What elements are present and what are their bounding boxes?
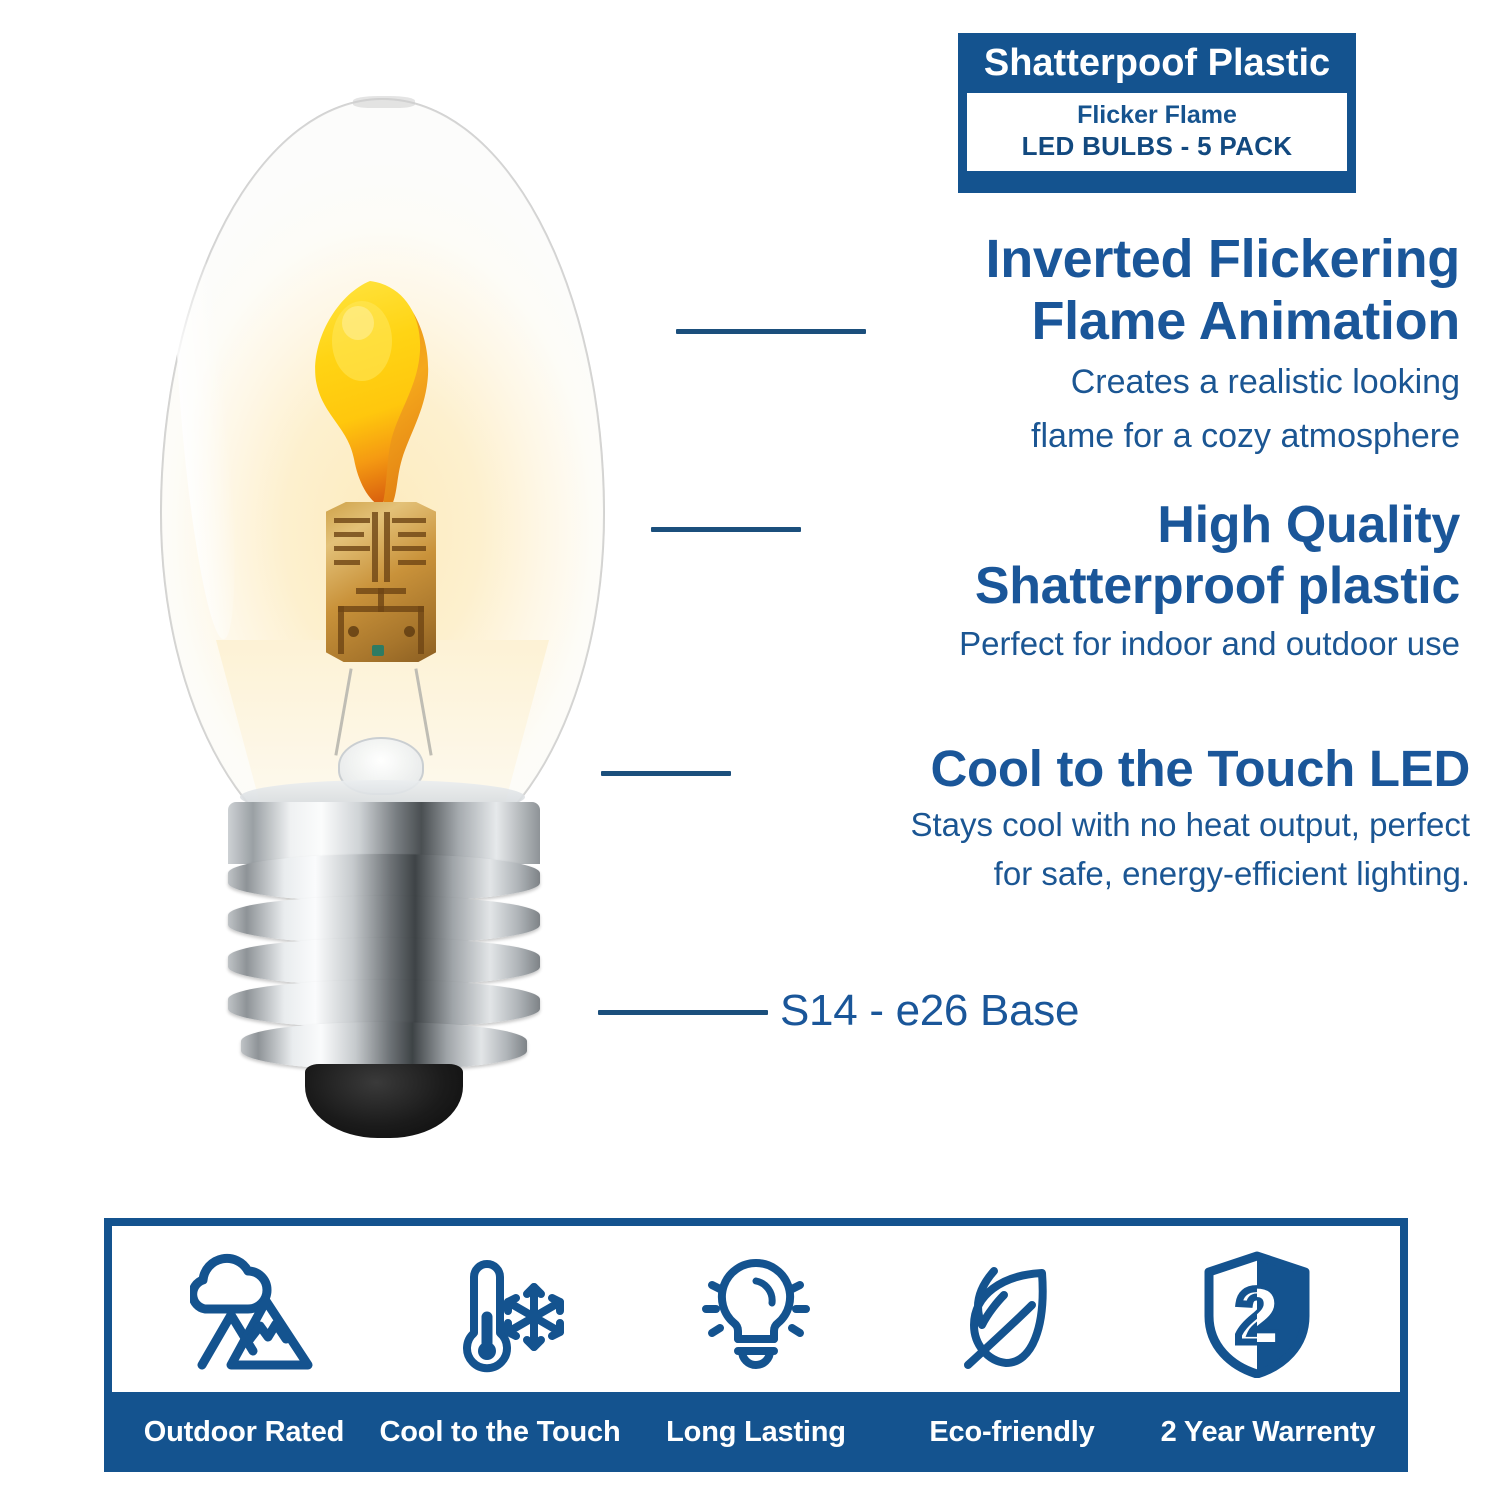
infographic-canvas: Shatterpoof Plastic Flicker Flame LED BU… [0,0,1500,1500]
header-badge: Shatterpoof Plastic Flicker Flame LED BU… [958,33,1356,193]
feature-3-heading-line1: Cool to the Touch LED [640,740,1470,798]
benefit-item-eco-friendly [881,1251,1131,1377]
feature-1-sub-line1: Creates a realistic looking [700,352,1460,406]
header-subtitle-box: Flicker Flame LED BULBS - 5 PACK [967,93,1347,171]
benefits-panel: 2 2 Outdoor Rated Cool to the Touch Long… [104,1218,1408,1472]
thermometer-snowflake-icon [444,1251,568,1377]
feature-1-heading-line2: Flame Animation [700,290,1460,352]
header-subtitle-line2: LED BULBS - 5 PACK [973,130,1341,162]
lightbulb-rays-icon [696,1251,816,1377]
feature-1-sub-line2: flame for a cozy atmosphere [700,406,1460,460]
screw-thread-rib [228,938,540,986]
benefit-item-warranty: 2 2 [1132,1250,1382,1378]
feature-2-heading-line1: High Quality [660,495,1460,556]
screw-thread-rib [228,896,540,944]
outdoor-cloud-mountain-icon [190,1253,320,1375]
feature-3-sub-line2: for safe, energy-efficient lighting. [640,847,1470,896]
led-filament-board [326,502,436,662]
screw-thread-rib [228,854,540,902]
header-subtitle-line1: Flicker Flame [973,100,1341,130]
feature-callout-1: Inverted Flickering Flame Animation Crea… [700,228,1460,460]
flame-animation-icon [310,277,455,517]
feature-callout-2: High Quality Shatterproof plastic Perfec… [660,495,1460,666]
feature-2-sub-line1: Perfect for indoor and outdoor use [660,617,1460,666]
bulb-top-nipple [353,96,415,108]
feature-2-heading-line2: Shatterproof plastic [660,556,1460,617]
feature-3-sub-line1: Stays cool with no heat output, perfect [640,798,1470,847]
screw-thread-rib [228,980,540,1028]
header-title: Shatterpoof Plastic [967,40,1347,86]
feature-callout-4: S14 - e26 Base [780,985,1079,1037]
benefits-label-row: Outdoor Rated Cool to the Touch Long Las… [104,1392,1408,1472]
benefit-item-outdoor-rated [130,1253,380,1375]
benefit-label-long-lasting: Long Lasting [628,1416,884,1449]
leaf-icon [946,1251,1066,1377]
benefit-label-warranty: 2 Year Warrenty [1140,1416,1396,1449]
feature-4-heading-line1: S14 - e26 Base [780,985,1079,1037]
shield-2-icon: 2 2 [1201,1250,1313,1378]
product-bulb-image [110,80,650,1190]
benefit-item-long-lasting [631,1251,881,1377]
benefit-label-eco-friendly: Eco-friendly [884,1416,1140,1449]
screw-thread-rib [241,1022,527,1070]
leader-line-feature-4 [598,1010,768,1015]
benefits-icon-row: 2 2 [112,1226,1400,1402]
benefit-label-outdoor-rated: Outdoor Rated [116,1416,372,1449]
benefit-label-cool-to-touch: Cool to the Touch [372,1416,628,1449]
e26-screw-base [228,802,540,1102]
led-chip [372,645,384,656]
benefit-item-cool-to-touch [380,1251,630,1377]
feature-callout-3: Cool to the Touch LED Stays cool with no… [640,740,1470,896]
feature-1-heading-line1: Inverted Flickering [700,228,1460,290]
base-contact-tip [305,1064,463,1138]
